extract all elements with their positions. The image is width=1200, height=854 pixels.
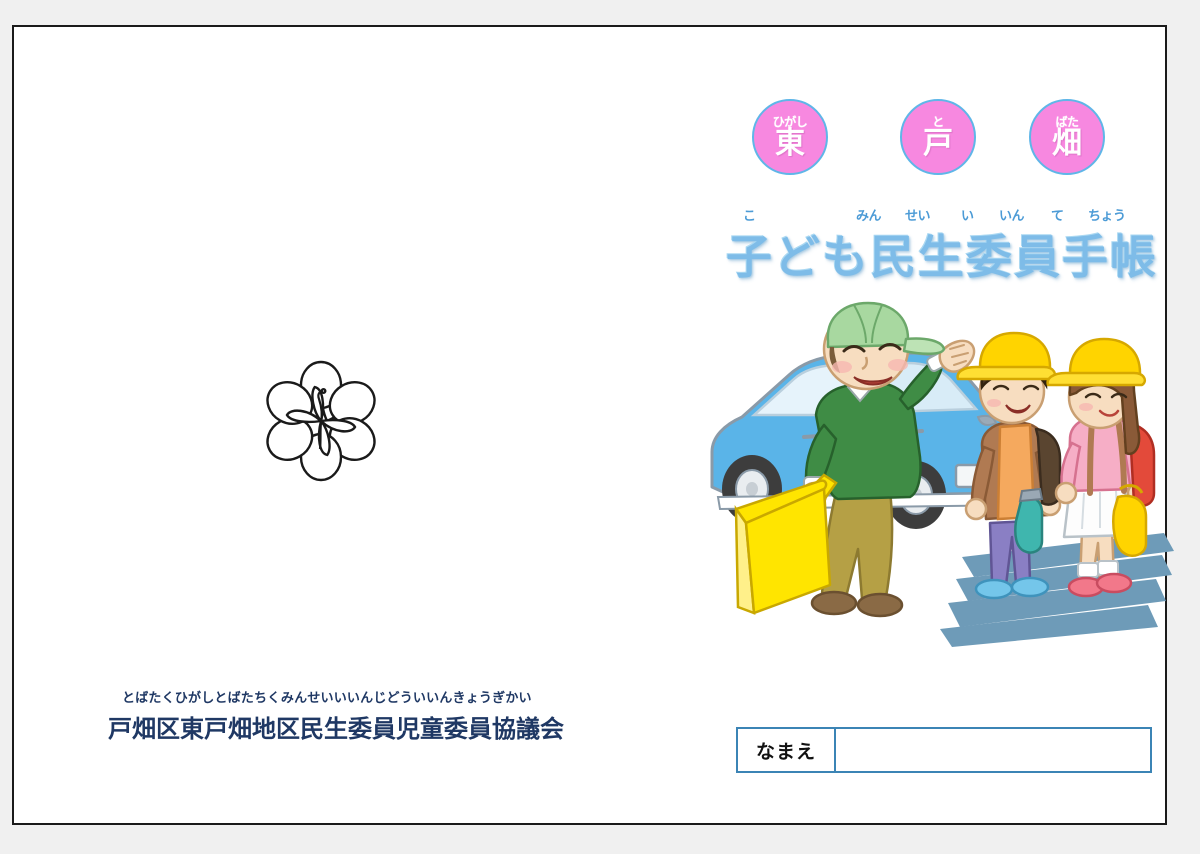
page-title: 子ども民生委員手帳 xyxy=(726,221,1158,287)
organisation-furigana: とばたくひがしとばたちくみんせいいいんじどういいんきょうぎかい xyxy=(122,687,578,706)
crossing-guard-with-children-illustration xyxy=(694,297,1174,647)
district-badge-bata: ばた 畑 xyxy=(1029,99,1105,175)
name-field-label: なまえ xyxy=(738,729,836,771)
district-badge-higashi: ひがし 東 xyxy=(752,99,828,175)
badge-kanji: 東 xyxy=(775,129,805,159)
organisation-name: 戸畑区東戸畑地区民生委員児童委員協議会 xyxy=(108,709,578,744)
badge-kanji: 戸 xyxy=(923,129,953,159)
district-badge-row: ひがし 東 と 戸 ばた 畑 xyxy=(752,99,1122,179)
badge-kanji: 畑 xyxy=(1052,129,1082,159)
name-input[interactable] xyxy=(836,729,1150,771)
cover-title-block: こ みん せい い いん て ちょう 子ども民生委員手帳 xyxy=(726,205,1146,285)
organisation-name-block: とばたくひがしとばたちくみんせいいいんじどういいんきょうぎかい 戸畑区東戸畑地区… xyxy=(108,687,578,744)
district-badge-to: と 戸 xyxy=(900,99,976,175)
name-field[interactable]: なまえ xyxy=(736,727,1152,773)
booklet-cover-page: ひがし 東 と 戸 ばた 畑 こ みん せい い いん て ちょう 子ども民生委… xyxy=(12,25,1167,825)
minsei-iin-flower-emblem-icon xyxy=(260,360,382,482)
